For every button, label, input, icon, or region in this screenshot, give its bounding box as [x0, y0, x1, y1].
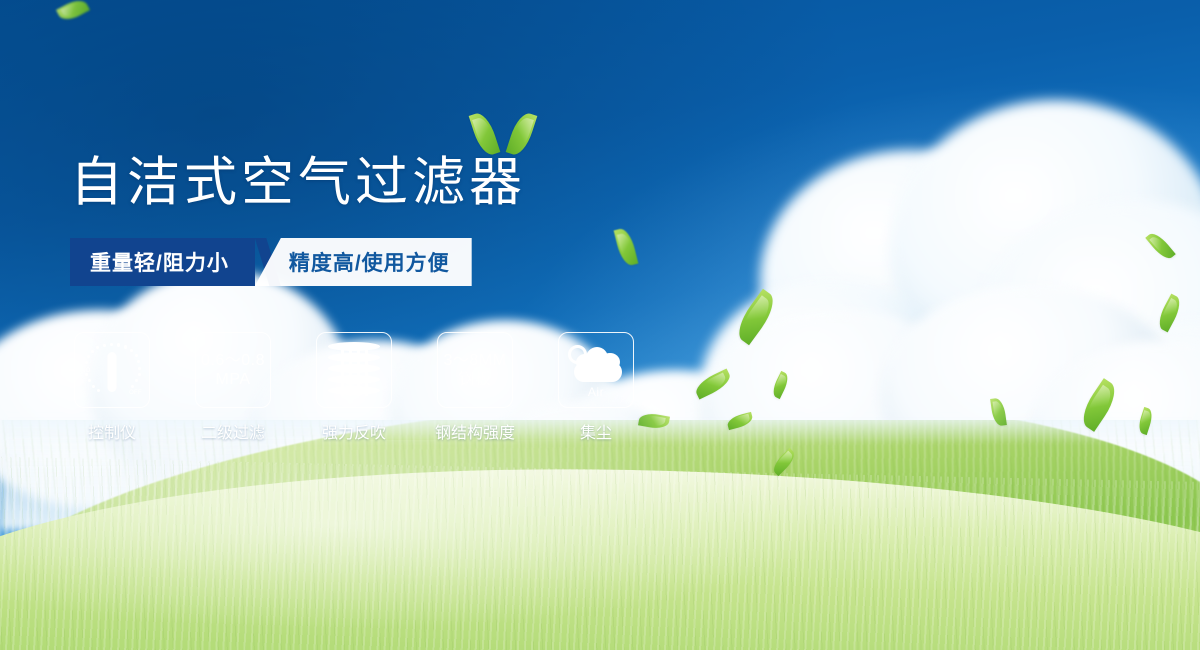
feature-icon-line2: MPA: [201, 370, 265, 389]
gauge-label-off: OFF: [129, 390, 142, 396]
feature-icon-line2: 钢板: [444, 370, 507, 389]
feature-item-two-stage-filter[interactable]: 0.6～0.8 MPA 二级过滤: [191, 332, 275, 443]
feature-icon-box: [316, 332, 392, 408]
feature-icon-box: NO OFF: [74, 332, 150, 408]
feature-icon-line1: 3～8MM: [444, 351, 507, 370]
feature-label: 钢结构强度: [435, 419, 515, 443]
hero-banner: 自洁式空气过滤器 重量轻/阻力小 精度高/使用方便: [0, 0, 1200, 650]
feature-label: 集尘: [580, 419, 612, 443]
feature-item-strong-backflush[interactable]: 强力反吹: [312, 332, 396, 443]
subtitle-bar: 重量轻/阻力小 精度高/使用方便: [70, 238, 472, 286]
gauge-needle: [108, 352, 117, 392]
feature-list: NO OFF 控制仪 0.6～0.8 MPA 二级过滤: [70, 332, 638, 443]
feature-label: 二级过滤: [201, 419, 265, 443]
subtitle-left: 重量轻/阻力小: [70, 238, 255, 286]
coil-icon: [328, 342, 380, 398]
cloud-icon: [566, 342, 626, 384]
air-label: Air: [588, 385, 604, 399]
feature-icon-line1: 0.6～0.8: [201, 351, 265, 370]
feature-label: 控制仪: [88, 419, 136, 443]
feature-label: 强力反吹: [322, 419, 386, 443]
gauge-label-no: NO: [81, 368, 91, 374]
feature-icon-box: 3～8MM 钢板: [437, 332, 513, 408]
page-title: 自洁式空气过滤器: [70, 140, 526, 216]
grass-field: [0, 420, 1200, 650]
subtitle-right: 精度高/使用方便: [255, 238, 472, 286]
grass-highlight: [0, 440, 1200, 650]
gauge-icon: NO OFF: [81, 341, 143, 399]
feature-item-controller[interactable]: NO OFF 控制仪: [70, 332, 154, 443]
feature-item-steel-strength[interactable]: 3～8MM 钢板 钢结构强度: [433, 332, 517, 443]
feature-icon-box: Air: [558, 332, 634, 408]
feature-item-dust-collection[interactable]: Air 集尘: [554, 332, 638, 443]
feature-icon-box: 0.6～0.8 MPA: [195, 332, 271, 408]
